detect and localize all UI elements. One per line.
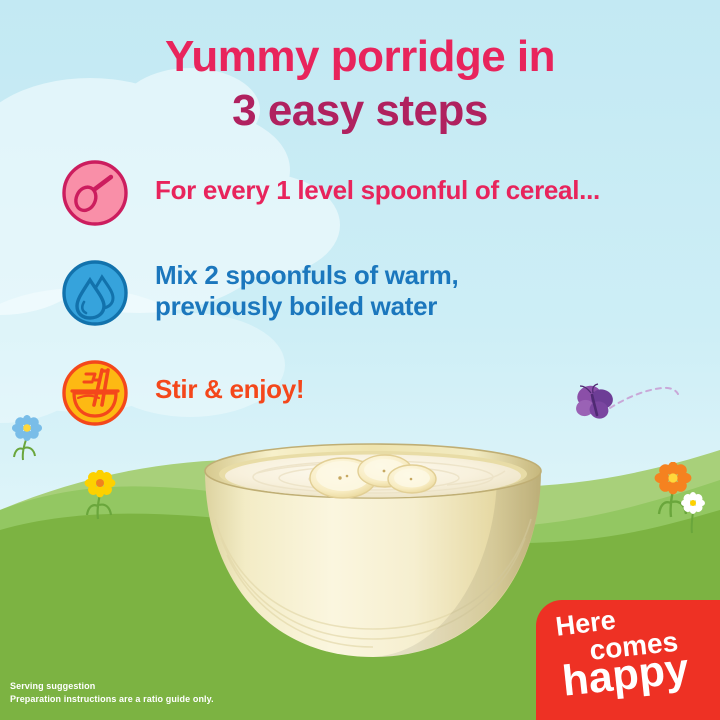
yellow-flower-icon	[82, 470, 118, 520]
footer-line-2: Preparation instructions are a ratio gui…	[10, 693, 214, 706]
here-comes-happy-badge: Here comes happy	[536, 600, 720, 720]
white-daisy-icon	[678, 492, 708, 534]
step-label-3: Stir & enjoy!	[128, 360, 304, 405]
step-label-1: For every 1 level spoonful of cereal...	[128, 160, 600, 206]
spoon-icon	[62, 160, 128, 226]
step-label-2: Mix 2 spoonfuls of warm, previously boil…	[128, 260, 458, 322]
bowl-of-porridge-image	[197, 443, 549, 683]
badge-line-3: happy	[560, 645, 691, 707]
title-line-1: Yummy porridge in	[0, 30, 720, 84]
step-item-1: For every 1 level spoonful of cereal...	[62, 160, 600, 226]
blue-flower-icon	[10, 415, 44, 461]
footer-disclaimer: Serving suggestion Preparation instructi…	[10, 680, 214, 706]
footer-line-1: Serving suggestion	[10, 680, 214, 693]
step-item-2: Mix 2 spoonfuls of warm, previously boil…	[62, 260, 458, 326]
step-item-3: Stir & enjoy!	[62, 360, 304, 426]
water-drop-icon	[62, 260, 128, 326]
page-title: Yummy porridge in 3 easy steps	[0, 30, 720, 138]
butterfly-icon	[566, 382, 686, 432]
title-line-2: 3 easy steps	[0, 84, 720, 138]
poster-root: Yummy porridge in 3 easy steps For every…	[0, 0, 720, 720]
bowl-spoon-icon	[62, 360, 128, 426]
